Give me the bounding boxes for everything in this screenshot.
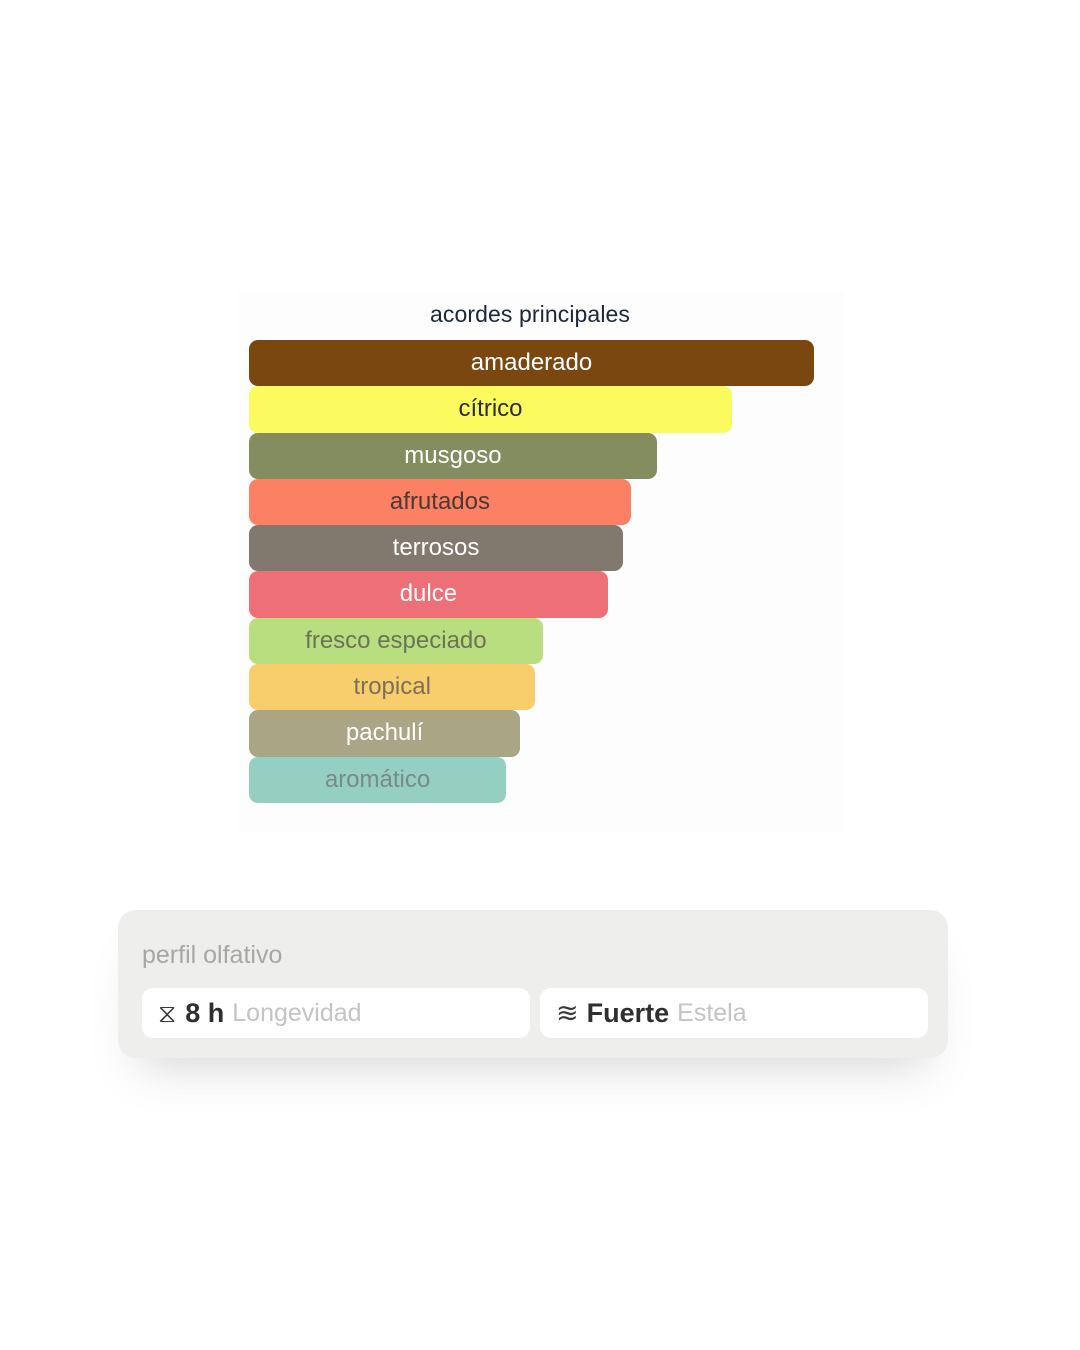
bar-row[interactable]: amaderado (249, 340, 844, 386)
bar-row[interactable]: pachulí (249, 710, 844, 756)
sillage-label: Estela (677, 999, 746, 1028)
bar-row[interactable]: cítrico (249, 386, 844, 432)
bar-label: amaderado (249, 340, 814, 386)
longevity-label: Longevidad (232, 999, 361, 1028)
chart-title: acordes principales (238, 300, 822, 328)
bar-label: afrutados (249, 479, 631, 525)
bar-label: pachulí (249, 710, 520, 756)
bar-label: musgoso (249, 433, 657, 479)
longevity-value: 8 h (185, 998, 224, 1029)
bar-label: aromático (249, 757, 506, 803)
bar-chart-bars: amaderadocítricomusgosoafrutadosterrosos… (249, 340, 844, 803)
wave-icon: ≋ (556, 1000, 578, 1027)
bar-row[interactable]: musgoso (249, 433, 844, 479)
bar-row[interactable]: tropical (249, 664, 844, 710)
profile-card-title: perfil olfativo (142, 940, 282, 970)
bar-label: tropical (249, 664, 535, 710)
main-accords-chart-panel: acordes principales amaderadocítricomusg… (238, 292, 844, 832)
bar-row[interactable]: afrutados (249, 479, 844, 525)
hourglass-icon: ⧖ (158, 1000, 176, 1026)
bar-label: dulce (249, 571, 608, 617)
profile-pill-group: ⧖ 8 h Longevidad ≋ Fuerte Estela (142, 988, 928, 1038)
sillage-pill[interactable]: ≋ Fuerte Estela (540, 988, 928, 1038)
bar-label: fresco especiado (249, 618, 543, 664)
bar-row[interactable]: fresco especiado (249, 618, 844, 664)
bar-label: cítrico (249, 386, 732, 432)
bar-row[interactable]: dulce (249, 571, 844, 617)
longevity-pill[interactable]: ⧖ 8 h Longevidad (142, 988, 530, 1038)
olfactory-profile-card: perfil olfativo ⧖ 8 h Longevidad ≋ Fuert… (118, 910, 948, 1058)
bar-row[interactable]: terrosos (249, 525, 844, 571)
bar-row[interactable]: aromático (249, 757, 844, 803)
sillage-value: Fuerte (587, 998, 670, 1029)
bar-label: terrosos (249, 525, 623, 571)
